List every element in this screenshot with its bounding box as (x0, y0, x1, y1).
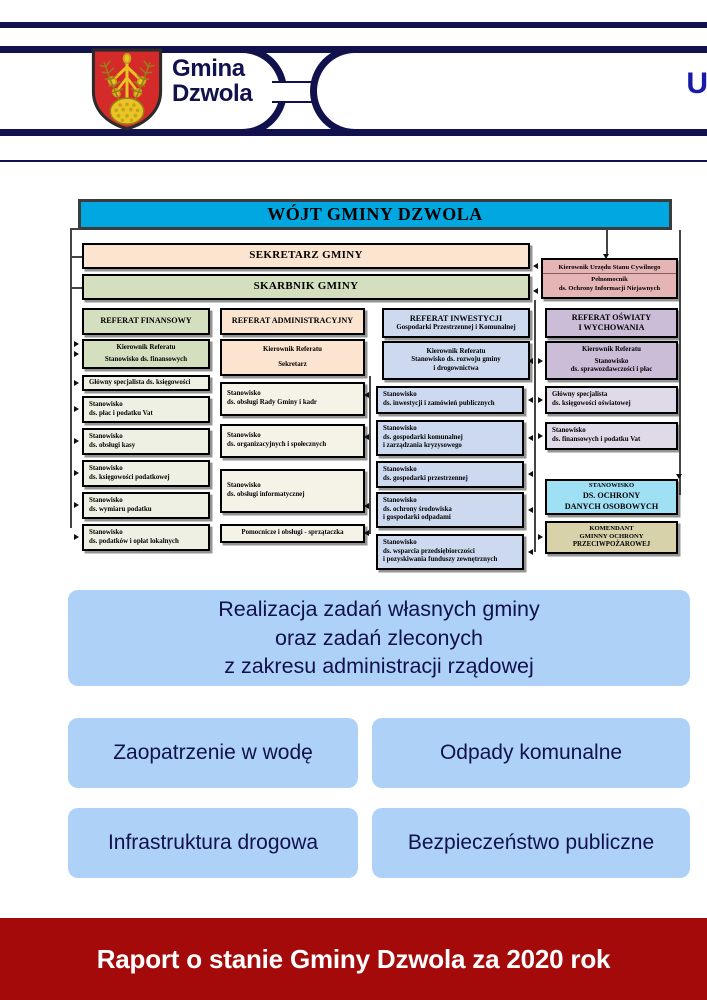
arrow-osw-chief (538, 358, 543, 364)
org-box-administracyjny-pos-2[interactable]: Stanowisko ds. organizacyjnych i społecz… (220, 424, 365, 458)
title-pill: Urząd Gminy Dzwola (310, 46, 707, 136)
arrow-inw-2 (528, 435, 533, 441)
org-box-administracyjny-pos-3[interactable]: Stanowisko ds. obsługi informatycznej (220, 469, 365, 513)
org-box-inwestycji-pos-4[interactable]: Stanowisko ds. ochrony środowiska i gosp… (376, 492, 524, 528)
org-box-administracyjny-chief[interactable]: Kierownik Referatu Sekretarz (220, 339, 365, 376)
connector-spine-col3 (534, 300, 536, 552)
org-box-oswiaty-chief[interactable]: Kierownik Referatu Stanowisko ds. sprawo… (545, 341, 678, 380)
org-box-skarbnik-gminy[interactable]: SKARBNIK GMINY (82, 274, 530, 300)
arrow-inw-1 (528, 397, 533, 403)
arrow-osw-1 (538, 397, 543, 403)
org-box-finansowy-pos-5[interactable]: Stanowisko ds. wymiaru podatku (82, 492, 210, 519)
header-inner-band: Gmina Dzwola Urząd Gminy Dzwola (0, 46, 707, 136)
arrow-ppoz (538, 534, 543, 540)
arrow-fin-6 (74, 534, 79, 540)
org-box-oswiaty-pos-1[interactable]: Główny specjalista ds. księgowości oświa… (545, 386, 678, 414)
arrow-inw-5 (528, 549, 533, 555)
header-banner: Gmina Dzwola Urząd Gminy Dzwola (0, 22, 707, 162)
arrow-osw-2 (538, 433, 543, 439)
task-main-line2: oraz zadań zleconych (218, 624, 539, 652)
org-box-finansowy-pos-3[interactable]: Stanowisko ds. obsługi kasy (82, 428, 210, 455)
org-box-usc-pelnomocnik[interactable]: Kierownik Urzędu Stanu Cywilnego Pełnomo… (541, 258, 678, 299)
logo-text-line2: Dzwola (172, 81, 252, 106)
connector-usc-down (606, 230, 608, 256)
arrow-usc-left2 (533, 288, 538, 294)
arrow-usc-left1 (533, 263, 538, 269)
connector-spine-right (679, 230, 681, 495)
org-box-inwestycji-pos-5[interactable]: Stanowisko ds. wsparcia przedsiębiorczoś… (376, 534, 524, 570)
org-box-ochrona-danych[interactable]: STANOWISKO DS. OCHRONY DANYCH OSOBOWYCH (545, 479, 678, 515)
connector-spine-col2 (369, 376, 371, 534)
task-main-line1: Realizacja zadań własnych gminy (218, 595, 539, 623)
org-box-finansowy-pos-2[interactable]: Stanowisko ds. płac i podatku Vat (82, 396, 210, 423)
office-title: Urząd Gminy Dzwola (647, 67, 707, 101)
coat-of-arms-icon (85, 47, 169, 131)
task-box-public-safety[interactable]: Bezpieczeństwo publiczne (372, 808, 690, 878)
arrow-fin-1 (74, 380, 79, 386)
connector-sekretarz (70, 256, 82, 258)
org-box-sekretarz-gminy[interactable]: SEKRETARZ GMINY (82, 243, 530, 269)
task-box-municipal-waste[interactable]: Odpady komunalne (372, 718, 690, 788)
arrow-fin-3 (74, 438, 79, 444)
org-box-finansowy-pos-4[interactable]: Stanowisko ds. księgowości podatkowej (82, 460, 210, 487)
arrow-inw-3 (528, 471, 533, 477)
org-box-oswiaty-pos-2[interactable]: Stanowisko ds. finansowych i podatku Vat (545, 422, 678, 450)
arrow-fin-4 (74, 470, 79, 476)
org-box-komendant-ppoz[interactable]: KOMENDANT GMINNY OCHRONY PRZECIWPOŻAROWE… (545, 521, 678, 554)
footer-bar: Raport o stanie Gminy Dzwola za 2020 rok (0, 918, 707, 1000)
task-main-line3: z zakresu administracji rządowej (218, 652, 539, 680)
org-box-inwestycji-pos-2[interactable]: Stanowisko ds. gospodarki komunalnej i z… (376, 420, 524, 456)
task-box-water-supply[interactable]: Zaopatrzenie w wodę (68, 718, 358, 788)
arrow-fin-chief2 (74, 351, 79, 357)
arrow-fin-5 (74, 502, 79, 508)
org-box-dept-oswiaty-header[interactable]: REFERAT OŚWIATY I WYCHOWANIA (545, 308, 678, 338)
task-water-label: Zaopatrzenie w wodę (113, 739, 313, 767)
org-box-dept-administracyjny-header[interactable]: REFERAT ADMINISTRACYJNY (220, 308, 365, 335)
logo-text-line1: Gmina (172, 56, 252, 81)
logo-text: Gmina Dzwola (172, 56, 252, 107)
connector-skarbnik (70, 287, 82, 289)
org-box-inwestycji-pos-1[interactable]: Stanowisko ds. inwestycji i zamówień pub… (376, 386, 524, 414)
task-waste-label: Odpady komunalne (440, 739, 622, 767)
arrow-inw-4 (528, 507, 533, 513)
task-safety-label: Bezpieczeństwo publiczne (408, 829, 654, 857)
org-box-administracyjny-pos-4[interactable]: Pomocnicze i obsługi - sprzątaczka (220, 524, 365, 543)
org-box-finansowy-pos-6[interactable]: Stanowisko ds. podatków i opłat lokalnyc… (82, 524, 210, 551)
org-box-finansowy-pos-1[interactable]: Główny specjalista ds. księgowości (82, 375, 210, 391)
org-box-wojt[interactable]: WÓJT GMINY DZWOLA (78, 199, 672, 230)
logo-pill: Gmina Dzwola (0, 46, 287, 136)
task-box-road-infrastructure[interactable]: Infrastruktura drogowa (68, 808, 358, 878)
task-box-main[interactable]: Realizacja zadań własnych gminy oraz zad… (68, 590, 690, 686)
arrow-fin-2 (74, 406, 79, 412)
org-box-dept-finansowy-header[interactable]: REFERAT FINANSOWY (82, 308, 210, 335)
org-box-dept-inwestycji-header[interactable]: REFERAT INWESTYCJI Gospodarki Przestrzen… (382, 308, 530, 338)
org-box-inwestycji-pos-3[interactable]: Stanowisko ds. gospodarki przestrzennej (376, 461, 524, 488)
org-box-administracyjny-pos-1[interactable]: Stanowisko ds. obsługi Rady Gminy i kadr (220, 382, 365, 416)
connector-spine-left (70, 228, 72, 528)
footer-title: Raport o stanie Gminy Dzwola za 2020 rok (97, 944, 611, 975)
task-road-label: Infrastruktura drogowa (108, 829, 318, 857)
org-box-inwestycji-chief[interactable]: Kierownik Referatu Stanowisko ds. rozwoj… (382, 341, 530, 380)
org-box-finansowy-chief[interactable]: Kierownik Referatu Stanowisko ds. finans… (82, 339, 210, 369)
arrow-fin-chief1 (74, 341, 79, 347)
